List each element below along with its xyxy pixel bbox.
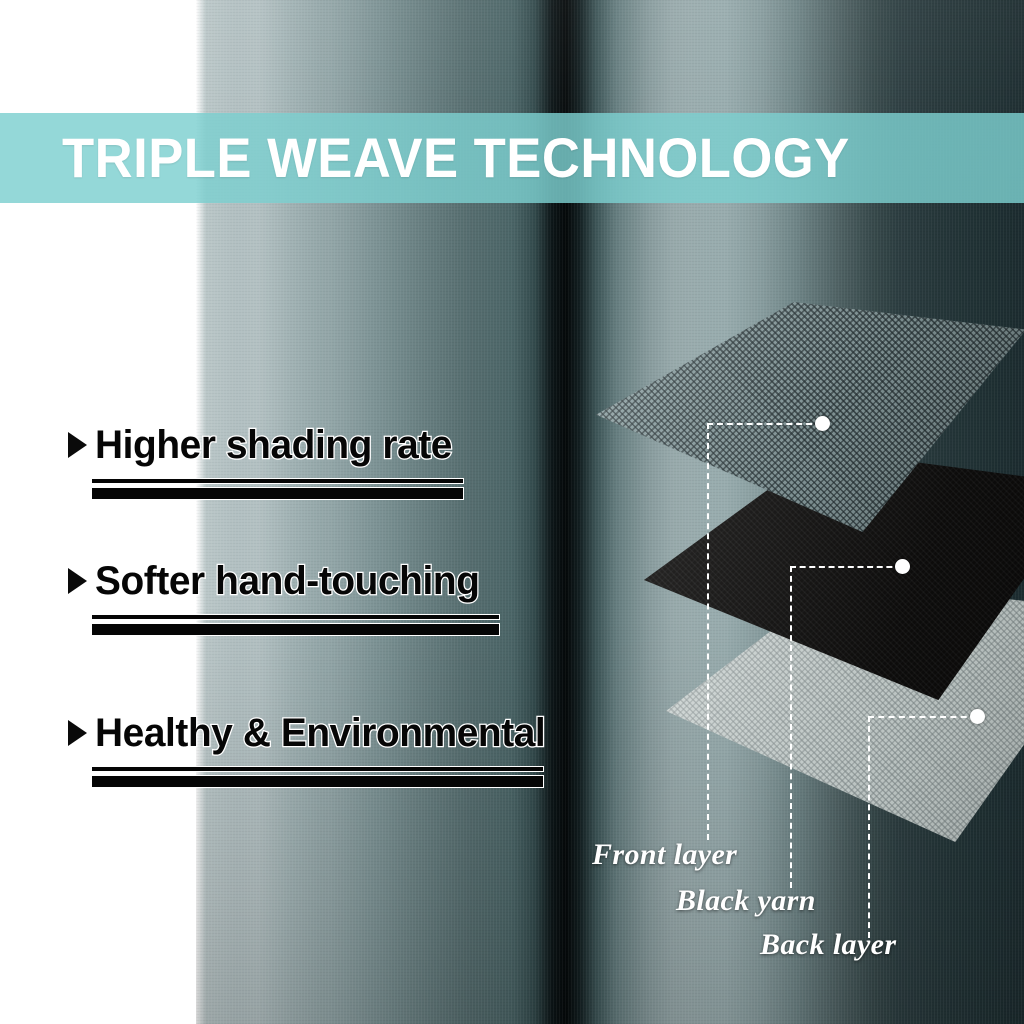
leader-endpoint-dot (895, 559, 910, 574)
feature-label: Softer hand-touching (95, 560, 480, 602)
triangle-bullet-icon (68, 432, 87, 458)
feature-line: Softer hand-touching (68, 560, 500, 602)
feature-underline (92, 478, 464, 500)
feature-item-higher-shading-rate: Higher shading rate (68, 424, 464, 500)
triangle-bullet-icon (68, 720, 87, 746)
callout-label-front-layer: Front layer (592, 838, 737, 872)
leader-horizontal-segment (707, 423, 822, 425)
feature-label: Higher shading rate (95, 424, 452, 466)
leader-horizontal-segment (790, 566, 902, 568)
underline-thin-rule (92, 614, 500, 620)
leader-endpoint-dot (970, 709, 985, 724)
underline-thick-rule (92, 623, 500, 636)
feature-item-softer-hand-touching: Softer hand-touching (68, 560, 500, 636)
underline-thin-rule (92, 766, 544, 772)
fabric-layer-diagram (560, 280, 1024, 860)
leader-vertical-segment (868, 716, 870, 938)
leader-endpoint-dot (815, 416, 830, 431)
leader-vertical-segment (707, 423, 709, 840)
feature-underline (92, 766, 544, 788)
feature-line: Healthy & Environmental (68, 712, 559, 754)
feature-list: Higher shading rate Softer hand-touching… (0, 0, 600, 1024)
product-infographic: TRIPLE WEAVE TECHNOLOGY Higher shading r… (0, 0, 1024, 1024)
callout-label-black-yarn: Black yarn (676, 884, 816, 918)
underline-thick-rule (92, 487, 464, 500)
underline-thick-rule (92, 775, 544, 788)
leader-horizontal-segment (868, 716, 977, 718)
underline-thin-rule (92, 478, 464, 484)
feature-label: Healthy & Environmental (95, 712, 545, 754)
callout-label-back-layer: Back layer (760, 928, 896, 962)
leader-vertical-segment (790, 566, 792, 888)
feature-line: Higher shading rate (68, 424, 464, 466)
feature-underline (92, 614, 500, 636)
feature-item-healthy-environmental: Healthy & Environmental (68, 712, 559, 788)
triangle-bullet-icon (68, 568, 87, 594)
